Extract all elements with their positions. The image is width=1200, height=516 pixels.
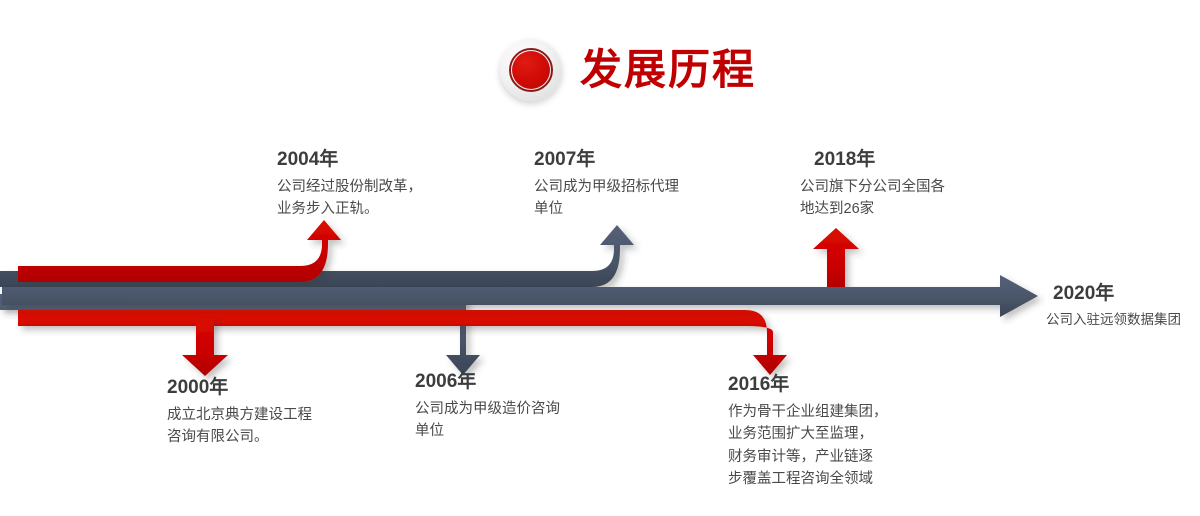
red-circle-icon — [500, 39, 562, 101]
event-year-2020: 2020年 — [1053, 284, 1200, 303]
event-year-2004: 2004年 — [277, 150, 527, 169]
rail-lower-slate — [0, 294, 480, 375]
timeline-event-2000: 2000年 成立北京典方建设工程 咨询有限公司。 — [167, 378, 417, 449]
connector-2018-up-arrow — [813, 228, 859, 293]
event-year-2000: 2000年 — [167, 378, 417, 397]
page-header: 发展历程 — [500, 30, 900, 110]
event-desc-2018: 公司旗下分公司全国各 地达到26家 — [800, 176, 1050, 221]
infographic-canvas: 发展历程 — [0, 0, 1200, 516]
timeline-event-2016: 2016年 作为骨干企业组建集团， 业务范围扩大至监理， 财务审计等，产业链逐 … — [728, 375, 998, 491]
event-year-2016: 2016年 — [728, 375, 998, 394]
page-title: 发展历程 — [580, 49, 756, 91]
event-desc-2000: 成立北京典方建设工程 咨询有限公司。 — [167, 404, 417, 449]
event-desc-2006: 公司成为甲级造价咨询 单位 — [415, 398, 665, 443]
red-circle-inner — [512, 51, 550, 89]
event-year-2018: 2018年 — [814, 150, 1050, 169]
timeline-event-2006: 2006年 公司成为甲级造价咨询 单位 — [415, 372, 665, 443]
event-year-2006: 2006年 — [415, 372, 665, 391]
timeline-event-2020: 2020年 公司入驻远领数据集团 — [1053, 284, 1200, 331]
connector-2000-down-arrow — [182, 319, 228, 376]
event-desc-2007: 公司成为甲级招标代理 单位 — [534, 176, 784, 221]
event-year-2007: 2007年 — [534, 150, 784, 169]
timeline-event-2007: 2007年 公司成为甲级招标代理 单位 — [534, 150, 784, 221]
timeline-event-2018: 2018年 公司旗下分公司全国各 地达到26家 — [800, 150, 1050, 221]
timeline-graphic — [0, 215, 1200, 385]
rail-upper-red — [18, 220, 341, 282]
rail-lower-red — [18, 310, 787, 375]
event-desc-2016: 作为骨干企业组建集团， 业务范围扩大至监理， 财务审计等，产业链逐 步覆盖工程咨… — [728, 401, 998, 491]
event-desc-2020: 公司入驻远领数据集团 — [1046, 310, 1200, 331]
timeline-event-2004: 2004年 公司经过股份制改革， 业务步入正轨。 — [277, 150, 527, 221]
event-desc-2004: 公司经过股份制改革， 业务步入正轨。 — [277, 176, 527, 221]
